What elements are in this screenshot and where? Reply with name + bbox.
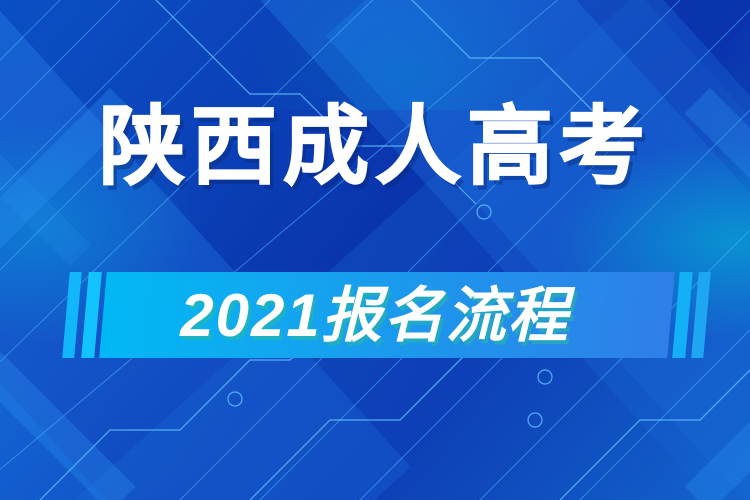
subtitle-text-container: 2021报名流程 xyxy=(0,268,750,364)
title-container: 陕西成人高考 xyxy=(0,104,750,190)
circuit-lines-overlay xyxy=(0,0,750,500)
banner-title: 陕西成人高考 xyxy=(99,104,651,190)
diagonal-band-left xyxy=(0,0,411,500)
diagonal-band-left-thin xyxy=(0,0,214,500)
diagonal-band-center xyxy=(157,0,750,500)
banner-poster: 陕西成人高考 2021报名流程 xyxy=(0,0,750,500)
diagonal-band-right xyxy=(326,0,750,500)
background-artwork xyxy=(0,0,750,500)
teal-glow-top xyxy=(250,0,570,110)
banner-subtitle: 2021报名流程 xyxy=(180,286,569,346)
diagonal-band-lower xyxy=(74,0,750,500)
